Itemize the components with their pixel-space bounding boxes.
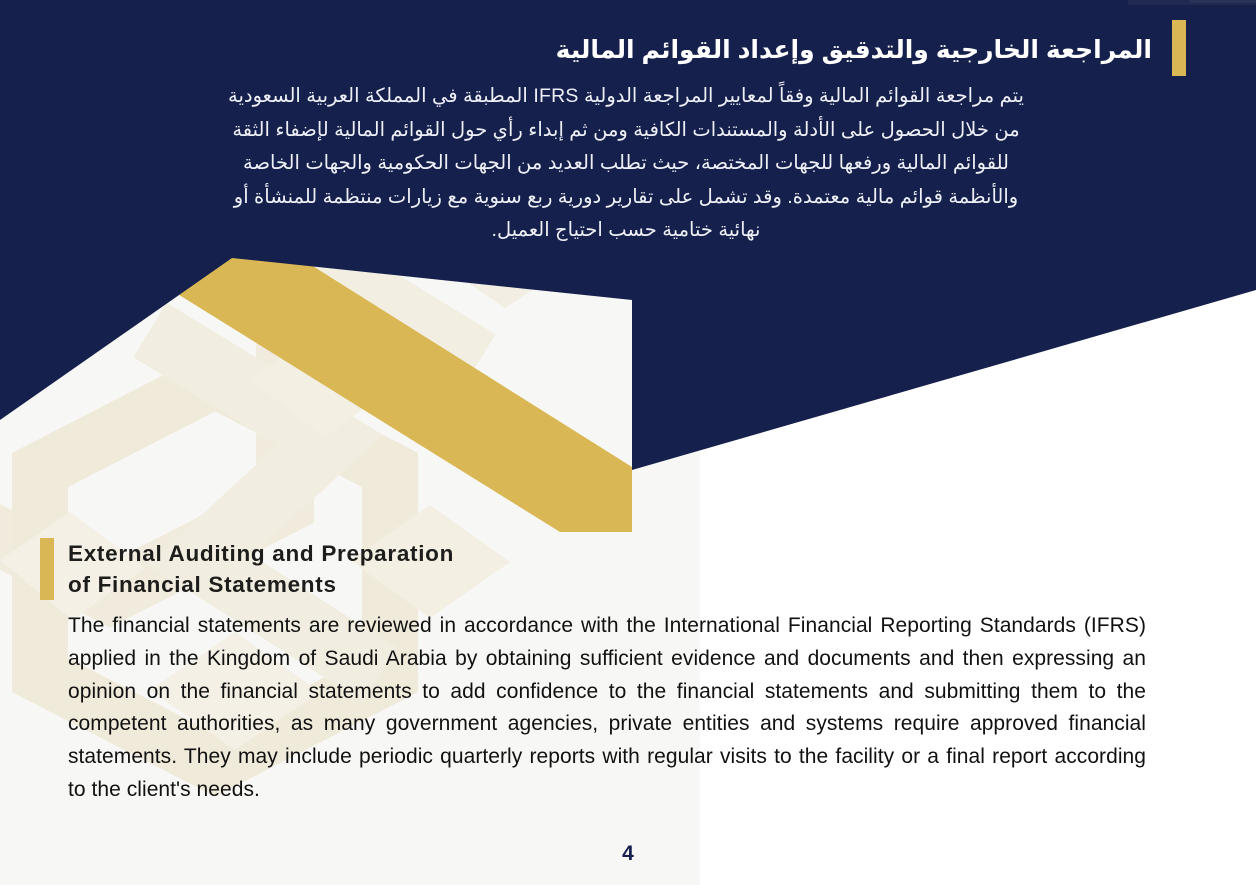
arabic-body-line: والأنظمة قوائم مالية معتمدة. وقد تشمل عل…	[106, 181, 1146, 215]
arabic-title-row: المراجعة الخارجية والتدقيق وإعداد القوائ…	[556, 20, 1186, 76]
gold-accent-bar-title	[1172, 20, 1186, 76]
arabic-body-line: من خلال الحصول على الأدلة والمستندات الك…	[106, 114, 1146, 148]
english-heading-line: of Financial Statements	[68, 569, 454, 600]
page-title-arabic: المراجعة الخارجية والتدقيق وإعداد القوائ…	[556, 20, 1152, 68]
slide-page: المراجعة الخارجية والتدقيق وإعداد القوائ…	[0, 0, 1256, 885]
arabic-body-line: نهائية ختامية حسب احتياج العميل.	[106, 214, 1146, 248]
english-heading-row: External Auditing and Preparation of Fin…	[40, 538, 1160, 600]
arabic-body-line: يتم مراجعة القوائم المالية وفقاً لمعايير…	[106, 80, 1146, 114]
arabic-body-text: يتم مراجعة القوائم المالية وفقاً لمعايير…	[106, 80, 1146, 248]
page-number: 4	[0, 842, 1256, 866]
arabic-body-line: للقوائم المالية ورفعها للجهات المختصة، ح…	[106, 147, 1146, 181]
english-content-block: External Auditing and Preparation of Fin…	[40, 538, 1160, 807]
english-heading-line: External Auditing and Preparation	[68, 538, 454, 569]
top-edge-strip-2	[1190, 0, 1256, 3]
gold-accent-bar-heading	[40, 538, 54, 600]
english-heading: External Auditing and Preparation of Fin…	[68, 538, 454, 600]
english-body-text: The financial statements are reviewed in…	[68, 610, 1146, 807]
